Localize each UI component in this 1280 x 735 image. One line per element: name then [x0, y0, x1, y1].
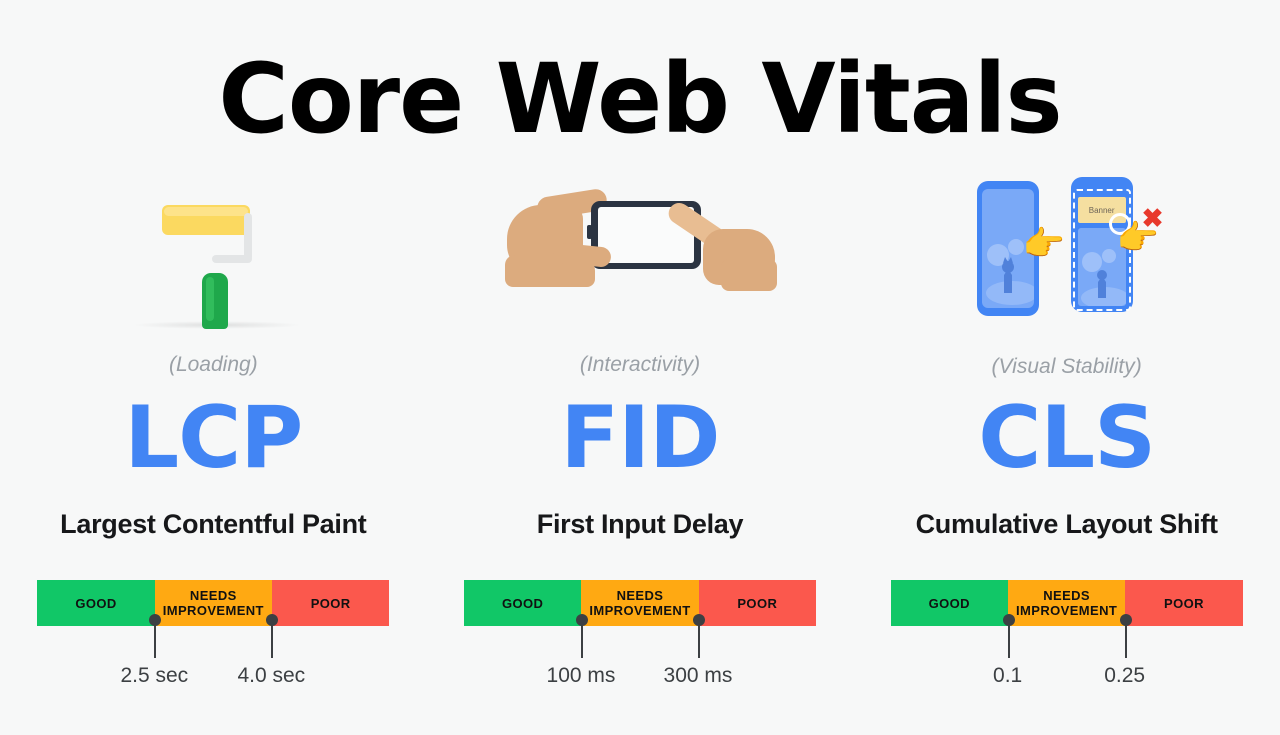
- band-ni-line2: IMPROVEMENT: [589, 603, 690, 618]
- band-good: GOOD: [37, 580, 154, 626]
- layout-shift-phones-icon: Banner 👉 👉 ✖: [967, 175, 1167, 323]
- layout-shift-illustration: Banner 👉 👉 ✖: [853, 175, 1280, 325]
- threshold-bar-cls: GOOD NEEDSIMPROVEMENT POOR 0.1 0.25: [853, 580, 1280, 710]
- band-good: GOOD: [464, 580, 581, 626]
- metric-sublabel-lcp: (Loading): [0, 353, 427, 377]
- marker-dot-icon: [1003, 614, 1015, 626]
- threshold-label-2: 4.0 sec: [201, 664, 341, 688]
- metric-fullname-fid: First Input Delay: [427, 509, 854, 540]
- threshold-marker-2: [271, 620, 273, 658]
- band-bar: GOOD NEEDSIMPROVEMENT POOR: [37, 580, 389, 626]
- threshold-label-2: 300 ms: [628, 664, 768, 688]
- phone-side-button: [587, 225, 592, 239]
- threshold-marker-1: [581, 620, 583, 658]
- band-ni-line1: NEEDS: [617, 588, 664, 603]
- metrics-columns: (Loading) LCP Largest Contentful Paint G…: [0, 175, 1280, 715]
- band-good: GOOD: [891, 580, 1008, 626]
- band-bar: GOOD NEEDSIMPROVEMENT POOR: [891, 580, 1243, 626]
- band-ni-line2: IMPROVEMENT: [1016, 603, 1117, 618]
- core-web-vitals-infographic: Core Web Vitals (Loading) LCP Largest Co…: [0, 0, 1280, 735]
- metric-acronym-cls: CLS: [853, 390, 1280, 486]
- threshold-bar-lcp: GOOD NEEDSIMPROVEMENT POOR 2.5 sec 4.0 s…: [0, 580, 427, 710]
- band-needs-improvement: NEEDSIMPROVEMENT: [581, 580, 698, 626]
- paint-roller-illustration: [0, 175, 427, 325]
- threshold-label-2: 0.25: [1055, 664, 1195, 688]
- threshold-marker-1: [1008, 620, 1010, 658]
- threshold-marker-2: [698, 620, 700, 658]
- threshold-bar-fid: GOOD NEEDSIMPROVEMENT POOR 100 ms 300 ms: [427, 580, 854, 710]
- hands-phone-illustration: [427, 175, 854, 325]
- hands-tapping-phone-icon: [507, 183, 773, 313]
- band-poor: POOR: [1125, 580, 1242, 626]
- roller-frame-vertical: [244, 213, 252, 261]
- band-bar: GOOD NEEDSIMPROVEMENT POOR: [464, 580, 816, 626]
- roller-head-highlight: [164, 207, 248, 216]
- error-cross-icon: ✖: [1142, 205, 1164, 231]
- paint-roller-icon: [140, 185, 300, 325]
- threshold-marker-2: [1125, 620, 1127, 658]
- right-hand-arm: [721, 259, 777, 291]
- metric-column-cls: Banner 👉 👉 ✖: [853, 175, 1280, 715]
- band-ni-line2: IMPROVEMENT: [163, 603, 264, 618]
- roller-frame-horizontal: [212, 255, 252, 263]
- band-needs-improvement: NEEDSIMPROVEMENT: [155, 580, 272, 626]
- band-ni-line1: NEEDS: [190, 588, 237, 603]
- threshold-marker-1: [154, 620, 156, 658]
- metric-acronym-lcp: LCP: [0, 390, 427, 486]
- metric-fullname-lcp: Largest Contentful Paint: [0, 509, 427, 540]
- metric-fullname-cls: Cumulative Layout Shift: [853, 509, 1280, 540]
- marker-dot-icon: [576, 614, 588, 626]
- metric-sublabel-cls: (Visual Stability): [853, 355, 1280, 379]
- metric-column-lcp: (Loading) LCP Largest Contentful Paint G…: [0, 175, 427, 715]
- metric-acronym-fid: FID: [427, 390, 854, 486]
- pointing-hand-icon: 👉: [1023, 227, 1065, 261]
- metric-column-fid: (Interactivity) FID First Input Delay GO…: [427, 175, 854, 715]
- marker-dot-icon: [693, 614, 705, 626]
- roller-grip-highlight: [206, 277, 214, 321]
- band-poor: POOR: [272, 580, 389, 626]
- page-title: Core Web Vitals: [0, 40, 1280, 158]
- marker-dot-icon: [1120, 614, 1132, 626]
- band-needs-improvement: NEEDSIMPROVEMENT: [1008, 580, 1125, 626]
- band-poor: POOR: [699, 580, 816, 626]
- metric-sublabel-fid: (Interactivity): [427, 353, 854, 377]
- band-ni-line1: NEEDS: [1043, 588, 1090, 603]
